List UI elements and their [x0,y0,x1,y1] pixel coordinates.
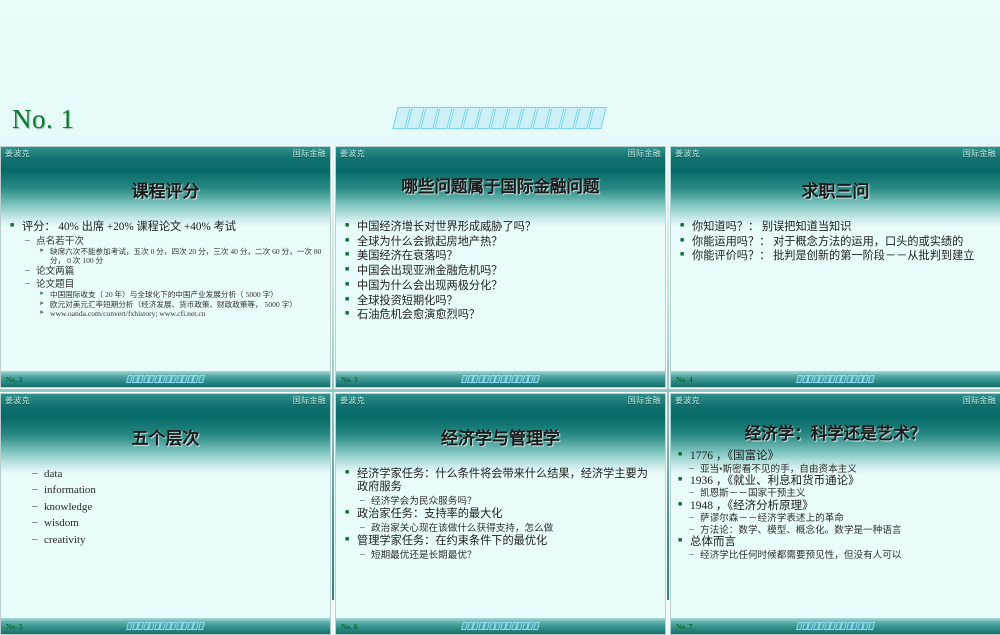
slide-footer-title-glyphs [797,375,874,383]
slide-bullet-item: 经济学会为民众服务吗？ [343,496,658,507]
slide-bullet-item: 方法论：数学、模型、概念化。数学是一种语言 [676,525,995,536]
slide-bullet-list: 中国经济增长对世界形成威胁了吗？全球为什么会掀起房地产热？美国经济在衰落吗？中国… [343,221,658,323]
slide-thumbnail[interactable]: 姜波克国际金融课程评分评分： 40% 出席 +20% 课程论文 +40% 考试点… [0,146,331,388]
slide-body: 1776 ，《国富论》亚当•斯密看不见的手，自由资本主义1936 ，《就业、利息… [671,450,1000,618]
slide-bullet-item: 管理学家任务：在约束条件下的最优化 [343,535,658,548]
slide-title: 求职三问 [671,177,1000,202]
slide-bullet-item: data [8,468,323,481]
slide-title: 哪些问题属于国际金融问题 [336,173,665,197]
slide-thumbnail[interactable]: 姜波克国际金融经济学与管理学经济学家任务：什么条件将会带来什么结果，经济学主要为… [335,393,666,635]
slide-thumbnail[interactable]: 姜波克国际金融经济学：科学还是艺术？1776 ，《国富论》亚当•斯密看不见的手，… [670,393,1000,635]
slide-header-course: 国际金融 [628,150,661,158]
slide-header-bar: 姜波克国际金融 [671,394,1000,407]
slide-bullet-item: 经济学比任何时候都需要预见性，但没有人可以 [676,550,995,561]
slide-footer-title-glyphs [462,375,539,383]
slide-header-bar: 姜波克国际金融 [336,394,665,407]
slide-header-author: 姜波克 [675,397,700,405]
slide-header-author: 姜波克 [675,150,700,158]
slide-footer-title [336,375,665,383]
slide-bullet-item: 全球投资短期化吗？ [343,295,658,308]
slide-bullet-item: information [8,484,323,497]
slide-title: 课程评分 [1,177,330,202]
slide-bullet-item: 点名若干次 [8,236,323,247]
slide-footer-title [1,622,330,630]
slide-body: 中国经济增长对世界形成威胁了吗？全球为什么会掀起房地产热？美国经济在衰落吗？中国… [336,221,665,371]
slide-header-course: 国际金融 [963,397,996,405]
slide-bullet-list: 经济学家任务：什么条件将会带来什么结果，经济学主要为政府服务经济学会为民众服务吗… [343,468,658,561]
slide-header-bar: 姜波克国际金融 [336,147,665,160]
slide-bullet-item: 美国经济在衰落吗？ [343,250,658,263]
slide-bullet-list: 1776 ，《国富论》亚当•斯密看不见的手，自由资本主义1936 ，《就业、利息… [676,450,995,561]
slide-grid: 姜波克国际金融课程评分评分： 40% 出席 +20% 课程论文 +40% 考试点… [0,146,1000,600]
slide-bullet-item: 你能评价吗？： 批判是创新的第一阶段－－从批判到建立 [678,250,993,263]
slide-bullet-item: www.oanda.com/convert/fxhistory; www.cfi… [8,310,323,319]
slide-bullet-item: 短期最优还是长期最优？ [343,550,658,561]
slide-footer-title-glyphs [462,622,539,630]
slide-title: 五个层次 [1,424,330,449]
slide-bullet-item: 论文两篇 [8,266,323,277]
slide-footer-title [671,622,1000,630]
slide-bullet-item: 1776 ，《国富论》 [676,450,995,464]
slide-bullet-item: 中国国际收支（ 20 年）与全球化下的中国产业发展分析（ 5000 字） [8,291,323,300]
slide-bullet-item: 缺席六次不能参加考试，五次 0 分，四次 20 分，三次 40 分，二次 60 … [8,248,323,266]
slide-footer: No. 7 [671,618,1000,634]
slide-title: 经济学：科学还是艺术？ [671,420,1000,444]
slide-header-author: 姜波克 [5,150,30,158]
slide-body: 评分： 40% 出席 +20% 课程论文 +40% 考试点名若干次缺席六次不能参… [1,221,330,371]
slide-bullet-item: knowledge [8,501,323,514]
slide-bullet-item: 石油危机会愈演愈烈吗？ [343,309,658,322]
slide-footer: No. 2 [1,371,330,387]
slide-footer-title [336,622,665,630]
slide-bullet-item: 1948 ，《经济分析原理》 [676,500,995,514]
slide-header-author: 姜波克 [5,397,30,405]
slide-bullet-item: 凯恩斯－－国家干预主义 [676,488,995,499]
slide-bullet-item: 论文题目 [8,279,323,290]
slide-bullet-item: 你能运用吗？： 对于概念方法的运用，口头的或实绩的 [678,236,993,249]
slide-header-course: 国际金融 [293,397,326,405]
slide-bullet-item: 政治家关心现在该做什么获得支持，怎么做 [343,523,658,534]
slide-header-course: 国际金融 [628,397,661,405]
slide-footer: No. 5 [1,618,330,634]
slide-body: 经济学家任务：什么条件将会带来什么结果，经济学主要为政府服务经济学会为民众服务吗… [336,468,665,618]
slide-bullet-item: 经济学家任务：什么条件将会带来什么结果，经济学主要为政府服务 [343,468,658,494]
slide-footer-title [671,375,1000,383]
slide-bullet-item: 中国经济增长对世界形成威胁了吗？ [343,221,658,234]
slide-bullet-list: 你知道吗？： 别误把知道当知识你能运用吗？： 对于概念方法的运用，口头的或实绩的… [678,221,993,264]
slide-footer: No. 3 [336,371,665,387]
slide-title: 经济学与管理学 [336,424,665,449]
slide-header-author: 姜波克 [340,397,365,405]
slide-body: datainformationknowledgewisdomcreativity [1,468,330,618]
slide-header-author: 姜波克 [340,150,365,158]
slide-header-bar: 姜波克国际金融 [671,147,1000,160]
slide-bullet-item: 全球为什么会掀起房地产热？ [343,236,658,249]
slide-bullet-item: wisdom [8,517,323,530]
slide-body: 你知道吗？： 别误把知道当知识你能运用吗？： 对于概念方法的运用，口头的或实绩的… [671,221,1000,371]
slide-bullet-item: 中国会出现亚洲金融危机吗？ [343,265,658,278]
slide-bullet-list: 评分： 40% 出席 +20% 课程论文 +40% 考试点名若干次缺席六次不能参… [8,221,323,319]
slide-footer: No. 6 [336,618,665,634]
slide-header-bar: 姜波克国际金融 [1,394,330,407]
slide-bullet-item: 1936 ，《就业、利息和货币通论》 [676,475,995,489]
slide-thumbnail[interactable]: 姜波克国际金融哪些问题属于国际金融问题中国经济增长对世界形成威胁了吗？全球为什么… [335,146,666,388]
slide-bullet-item: creativity [8,534,323,547]
slide-header-course: 国际金融 [963,150,996,158]
slide-footer-title-glyphs [127,375,204,383]
slide-footer-title-glyphs [127,622,204,630]
slide-bullet-item: 亚当•斯密看不见的手，自由资本主义 [676,464,995,475]
slide-bullet-item: 中国为什么会出现两极分化？ [343,280,658,293]
slide-footer-title [1,375,330,383]
slide-bullet-item: 你知道吗？： 别误把知道当知识 [678,221,993,234]
slide-bullet-list: datainformationknowledgewisdomcreativity [8,468,323,547]
banner-title-glyphs [395,103,605,129]
slide-bullet-item: 评分： 40% 出席 +20% 课程论文 +40% 考试 [8,221,323,234]
slide-bullet-item: 政治家任务：支持率的最大化 [343,508,658,521]
slide-header-bar: 姜波克国际金融 [1,147,330,160]
slide-thumbnail[interactable]: 姜波克国际金融求职三问你知道吗？： 别误把知道当知识你能运用吗？： 对于概念方法… [670,146,1000,388]
slide-header-course: 国际金融 [293,150,326,158]
presentation-banner: No. 1 [0,0,1000,146]
slide-thumbnail[interactable]: 姜波克国际金融五个层次datainformationknowledgewisdo… [0,393,331,635]
slide-bullet-item: 萨谬尔森－－经济学表述上的革命 [676,513,995,524]
slide-footer: No. 4 [671,371,1000,387]
slide-footer-title-glyphs [797,622,874,630]
slide-bullet-item: 总体而言 [676,536,995,550]
banner-title [0,103,1000,129]
